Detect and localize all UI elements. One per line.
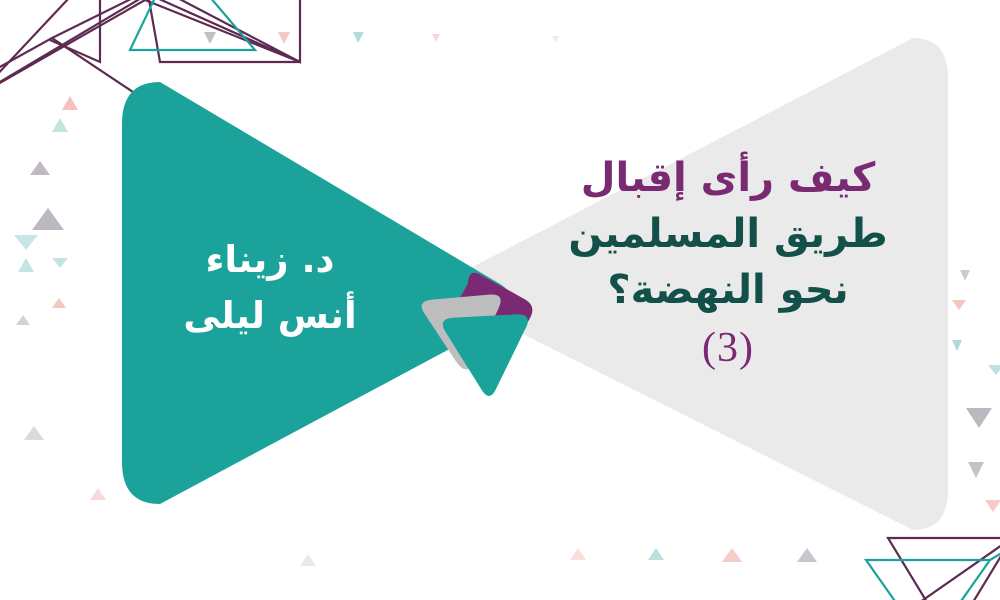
title-line-1: كيف رأى إقبال — [528, 150, 928, 206]
speaker-line-1: د. زيناء — [120, 232, 420, 288]
slide-canvas: كيف رأى إقبال طريق المسلمين نحو النهضة؟ … — [0, 0, 1000, 600]
episode-number: (3) — [528, 324, 928, 372]
speaker-block: د. زيناء أنس ليلى — [120, 232, 420, 343]
speaker-line-2: أنس ليلى — [120, 288, 420, 344]
title-block: كيف رأى إقبال طريق المسلمين نحو النهضة؟ … — [528, 150, 928, 372]
text-layer: كيف رأى إقبال طريق المسلمين نحو النهضة؟ … — [0, 0, 1000, 600]
title-line-3: نحو النهضة؟ — [528, 262, 928, 318]
title-line-2: طريق المسلمين — [528, 206, 928, 262]
